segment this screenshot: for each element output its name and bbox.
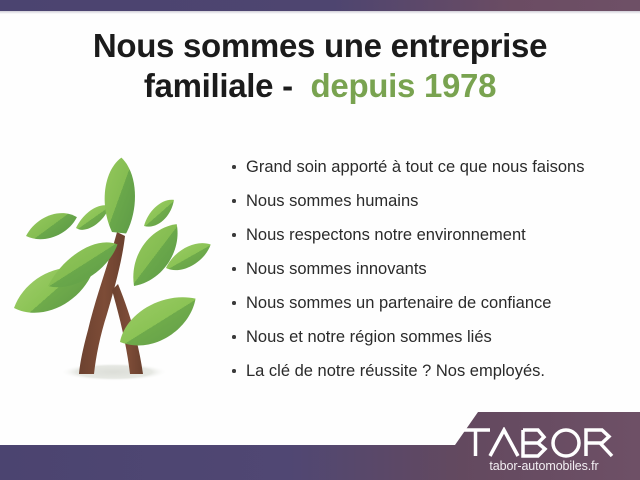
list-item: Nous sommes humains: [228, 184, 632, 218]
footer-bar: tabor-automobiles.fr: [0, 412, 640, 480]
bullet-dot-icon: [232, 335, 236, 339]
bullet-dot-icon: [232, 165, 236, 169]
tabor-wordmark-icon: [458, 427, 630, 459]
list-item: Grand soin apporté à tout ce que nous fa…: [228, 150, 632, 184]
page-title-dash: [273, 67, 282, 104]
list-item-label: Nous sommes innovants: [246, 260, 427, 278]
list-item: Nous sommes innovants: [228, 252, 632, 286]
slide-canvas: Nous sommes une entreprise familiale - d…: [0, 0, 640, 480]
leaf-9: [120, 295, 196, 347]
list-item-label: Nous et notre région sommes liés: [246, 328, 492, 346]
list-item: Nous et notre région sommes liés: [228, 320, 632, 354]
tree-leaves: [8, 157, 211, 347]
page-title-spacer: [293, 67, 311, 104]
bullet-dot-icon: [232, 301, 236, 305]
list-item: La clé de notre réussite ? Nos employés.: [228, 354, 632, 388]
tree-ground-shadow: [60, 363, 168, 381]
logo-tagline: tabor-automobiles.fr: [458, 460, 630, 473]
bullet-dot-icon: [232, 233, 236, 237]
leaf-4: [76, 203, 110, 231]
bullet-dot-icon: [232, 369, 236, 373]
page-title: Nous sommes une entreprise familiale - d…: [0, 26, 640, 107]
page-title-line-1: Nous sommes une entreprise: [0, 26, 640, 66]
list-item-label: Nous sommes humains: [246, 192, 418, 210]
list-item-label: La clé de notre réussite ? Nos employés.: [246, 362, 545, 380]
leaf-6: [144, 196, 174, 229]
bullet-dot-icon: [232, 267, 236, 271]
list-item: Nous respectons notre environnement: [228, 218, 632, 252]
leaf-1: [22, 209, 80, 244]
list-item: Nous sommes un partenaire de confiance: [228, 286, 632, 320]
page-title-accent-text: depuis 1978: [311, 67, 497, 104]
list-item-label: Nous respectons notre environnement: [246, 226, 526, 244]
leaf-5: [103, 157, 136, 234]
page-title-dash-glyph: -: [282, 67, 293, 104]
top-accent-strip: [0, 0, 640, 11]
leaf-7: [132, 220, 179, 290]
page-title-main-text: familiale: [144, 67, 273, 104]
brand-logo[interactable]: tabor-automobiles.fr: [458, 427, 630, 473]
list-item-label: Nous sommes un partenaire de confiance: [246, 294, 551, 312]
benefits-list: Grand soin apporté à tout ce que nous fa…: [228, 150, 632, 388]
page-title-line-2: familiale - depuis 1978: [0, 66, 640, 106]
list-item-label: Grand soin apporté à tout ce que nous fa…: [246, 158, 584, 176]
tree-illustration: [8, 150, 224, 390]
top-accent-strip-shadow: [0, 11, 640, 14]
bullet-dot-icon: [232, 199, 236, 203]
